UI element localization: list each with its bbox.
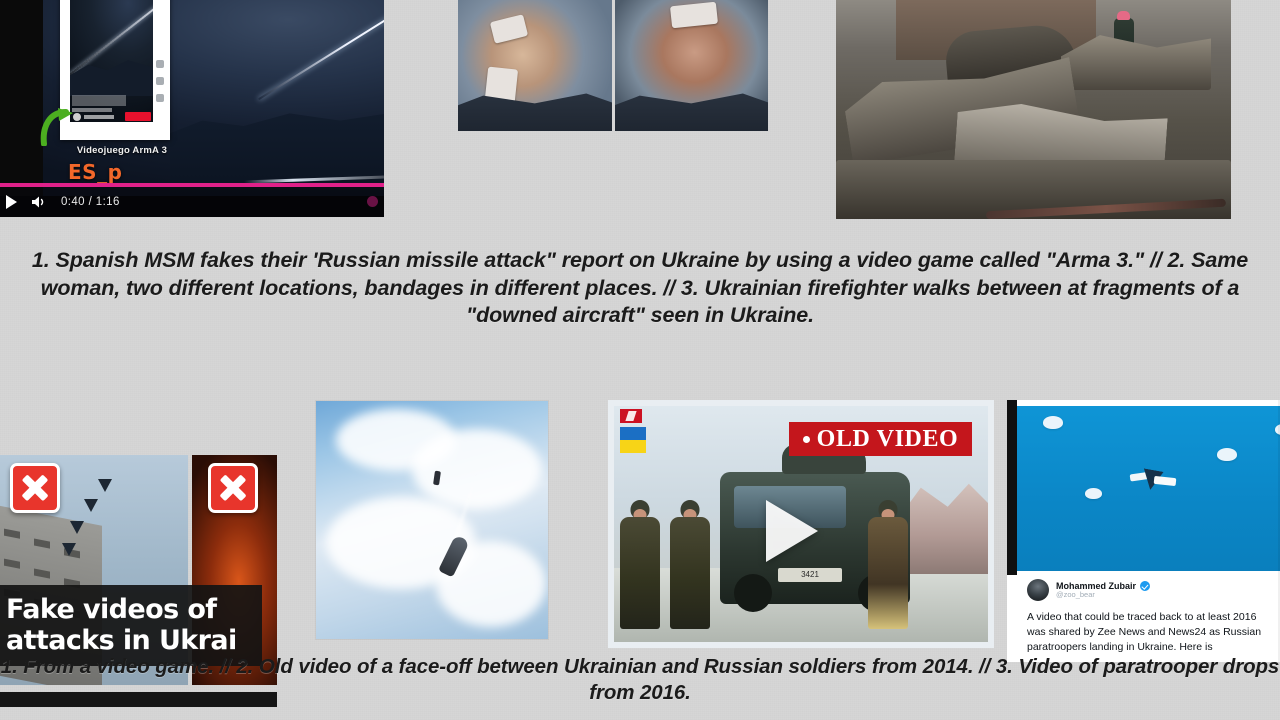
- soldier-figure: [618, 500, 662, 628]
- inset-caption-line-2: [72, 108, 112, 112]
- bandage: [490, 14, 528, 44]
- badge-dot-icon: [803, 436, 810, 443]
- parachute: [1043, 416, 1063, 429]
- old-video-badge: OLD VIDEO: [789, 422, 972, 456]
- tweet-handle: @zoo_bear: [1056, 591, 1150, 600]
- play-triangle: [766, 500, 818, 562]
- soldier-body: [868, 517, 908, 629]
- inset-avatar: [73, 113, 81, 121]
- inset-cta-button[interactable]: [125, 112, 151, 121]
- tweet-text: A video that could be traced back to at …: [1027, 610, 1272, 655]
- flag-overlay: [620, 409, 646, 453]
- verified-badge-icon: [1140, 581, 1150, 591]
- vehicle-wheel: [734, 574, 772, 612]
- tiktok-video-inset: [70, 0, 153, 122]
- inset-username: [84, 115, 114, 119]
- parachute: [1085, 488, 1102, 499]
- video-timestamp: 0:40 / 1:16: [61, 196, 120, 208]
- caption-top: 1. Spanish MSM fakes their 'Russian miss…: [0, 247, 1280, 330]
- ukraine-flag-icon: [620, 427, 646, 453]
- volume-icon[interactable]: [31, 195, 47, 209]
- video-frame: Videojuego ArmA 3 ES_p: [0, 0, 384, 196]
- same-woman-two-locations: [458, 0, 768, 131]
- russia-flag-icon: [620, 409, 642, 423]
- soldier-figure: [866, 500, 910, 628]
- arma3-video-player[interactable]: Videojuego ArmA 3 ES_p 0:40 / 1:16: [0, 0, 384, 217]
- like-icon: [156, 60, 164, 68]
- video-letterbox: [0, 0, 43, 196]
- missile-trail: [186, 2, 384, 120]
- photo-letterbox: [1007, 400, 1017, 575]
- soldier-body: [670, 517, 710, 629]
- video-controls-bar: 0:40 / 1:16: [0, 187, 384, 217]
- vehicle-license-plate: 3421: [778, 568, 842, 582]
- aircraft-silhouette: [1130, 468, 1176, 492]
- channel-watermark: ES_p: [68, 160, 122, 184]
- woman-photo-left: [458, 0, 612, 131]
- tweet-card[interactable]: Mohammed Zubair @zoo_bear A video that c…: [1017, 571, 1280, 662]
- inset-caption-line: [72, 95, 147, 106]
- caption-bottom: 1. From a video game. // 2. Old video of…: [0, 654, 1280, 706]
- bandage: [669, 2, 717, 29]
- blue-sky-scene: [1017, 406, 1280, 571]
- inset-hill: [70, 50, 153, 96]
- fighter-jet-icon: [98, 479, 112, 492]
- play-icon[interactable]: [766, 500, 818, 562]
- green-curved-arrow-icon: [40, 106, 74, 146]
- share-icon: [156, 94, 164, 102]
- phone-screenshot-inset: [60, 0, 170, 140]
- woman-photo-right: [615, 0, 769, 131]
- soldier-figure: [668, 500, 712, 628]
- falling-object-sky-photo: [316, 401, 548, 639]
- old-video-badge-label: OLD VIDEO: [817, 426, 959, 453]
- downed-aircraft-wreckage-photo: [836, 0, 1231, 219]
- thumbnail-title-line-1: Fake videos of: [6, 595, 262, 625]
- paratrooper-drop-photo: Mohammed Zubair @zoo_bear A video that c…: [1007, 400, 1280, 662]
- coat: [458, 89, 612, 131]
- cloud: [412, 429, 542, 509]
- comment-icon: [156, 77, 164, 85]
- play-icon[interactable]: [6, 195, 17, 209]
- parachute: [1217, 448, 1237, 461]
- fighter-jet-icon: [70, 521, 84, 534]
- thumbnail-title-line-2: attacks in Ukrai: [6, 626, 262, 656]
- fighter-jet-icon: [84, 499, 98, 512]
- slide-canvas: Videojuego ArmA 3 ES_p 0:40 / 1:16: [0, 0, 1280, 720]
- red-x-badge-icon: [208, 463, 258, 513]
- inset-action-rail: [154, 60, 166, 116]
- red-x-badge-icon: [10, 463, 60, 513]
- videojuego-label: Videojuego ArmA 3: [62, 145, 182, 156]
- soldier-body: [620, 517, 660, 629]
- tweet-author-block: Mohammed Zubair @zoo_bear: [1056, 581, 1150, 600]
- avatar: [1027, 579, 1049, 601]
- coat: [615, 89, 769, 131]
- fighter-jet-icon: [62, 543, 76, 556]
- tweet-header: Mohammed Zubair @zoo_bear: [1027, 579, 1272, 601]
